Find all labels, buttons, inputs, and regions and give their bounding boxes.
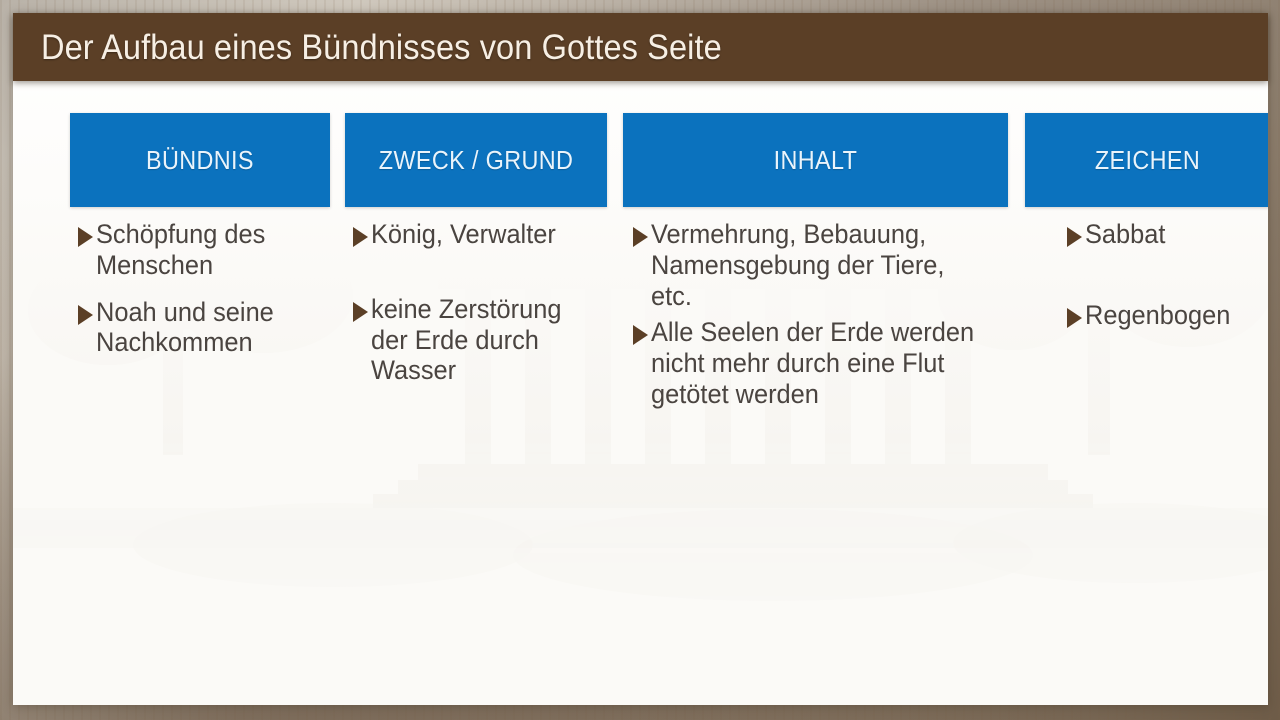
triangle-bullet-icon xyxy=(633,325,648,345)
column-header-buendnis[interactable]: BÜNDNIS xyxy=(70,113,330,207)
column-header-zeichen[interactable]: ZEICHEN xyxy=(1025,113,1268,207)
column-inhalt: INHALT Vermehrung, Bebauung, Namensgebun… xyxy=(623,113,1008,416)
column-buendnis: BÜNDNIS Schöpfung des Menschen Noah und … xyxy=(70,113,330,374)
column-body-buendnis: Schöpfung des Menschen Noah und seine Na… xyxy=(70,207,330,358)
content-columns: BÜNDNIS Schöpfung des Menschen Noah und … xyxy=(13,13,1268,705)
list-item: Sabbat xyxy=(1067,219,1266,250)
page-title: Der Aufbau eines Bündnisses von Gottes S… xyxy=(41,30,722,65)
bullet-text: Sabbat xyxy=(1085,219,1255,250)
list-item: König, Verwalter xyxy=(353,219,603,250)
triangle-bullet-icon xyxy=(353,227,368,247)
triangle-bullet-icon xyxy=(1067,308,1082,328)
triangle-bullet-icon xyxy=(78,227,93,247)
slide-canvas: BÜNDNIS Schöpfung des Menschen Noah und … xyxy=(13,13,1268,705)
bullet-text: Vermehrung, Bebauung, Namensgebung der T… xyxy=(651,219,983,311)
bullet-text: keine Zerstörung der Erde durch Wasser xyxy=(371,294,589,386)
bullet-text: Schöpfung des Menschen xyxy=(96,219,312,281)
column-header-label: ZWECK / GRUND xyxy=(379,145,573,176)
column-header-zweck-grund[interactable]: ZWECK / GRUND xyxy=(345,113,607,207)
bullet-text: König, Verwalter xyxy=(371,219,589,250)
triangle-bullet-icon xyxy=(78,305,93,325)
column-body-zweck-grund: König, Verwalter keine Zerstörung der Er… xyxy=(345,207,607,386)
column-zeichen: ZEICHEN Sabbat Regenbogen xyxy=(1025,113,1268,381)
triangle-bullet-icon xyxy=(633,227,648,247)
bullet-text: Regenbogen xyxy=(1085,300,1255,331)
slide-title-bar: Der Aufbau eines Bündnisses von Gottes S… xyxy=(13,13,1268,81)
bullet-text: Alle Seelen der Erde werden nicht mehr d… xyxy=(651,317,983,409)
column-header-label: BÜNDNIS xyxy=(146,145,254,176)
column-header-label: ZEICHEN xyxy=(1095,145,1200,176)
list-item: Vermehrung, Bebauung, Namensgebung der T… xyxy=(633,219,1004,311)
list-item: Schöpfung des Menschen xyxy=(78,219,326,281)
bullet-text: Noah und seine Nachkommen xyxy=(96,297,312,359)
slide-frame: BÜNDNIS Schöpfung des Menschen Noah und … xyxy=(0,0,1280,720)
column-header-label: INHALT xyxy=(774,145,858,176)
triangle-bullet-icon xyxy=(353,302,368,322)
column-zweck-grund: ZWECK / GRUND König, Verwalter keine Zer… xyxy=(345,113,607,430)
column-body-zeichen: Sabbat Regenbogen xyxy=(1025,207,1268,331)
triangle-bullet-icon xyxy=(1067,227,1082,247)
column-header-inhalt[interactable]: INHALT xyxy=(623,113,1008,207)
list-item: Alle Seelen der Erde werden nicht mehr d… xyxy=(633,317,1004,409)
column-body-inhalt: Vermehrung, Bebauung, Namensgebung der T… xyxy=(623,207,1008,410)
list-item: Noah und seine Nachkommen xyxy=(78,297,326,359)
list-item: keine Zerstörung der Erde durch Wasser xyxy=(353,294,603,386)
list-item: Regenbogen xyxy=(1067,300,1266,331)
